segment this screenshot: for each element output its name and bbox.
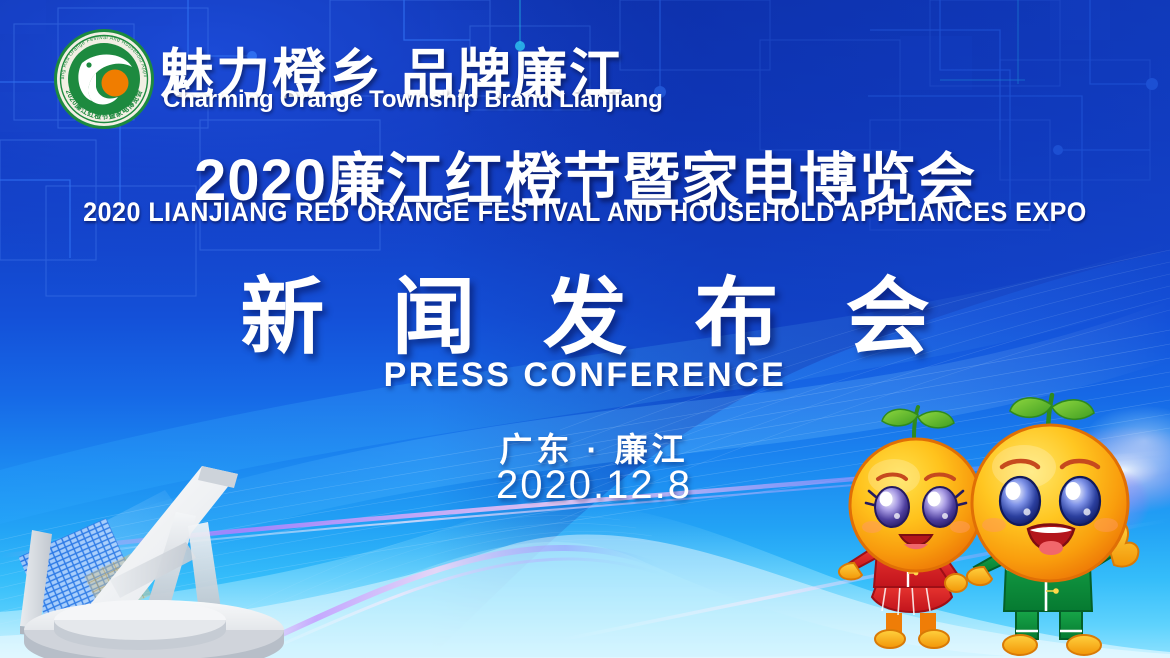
brand-slogan-en: Charming Orange Township Brand Lianjiang — [163, 86, 663, 114]
festival-emblem-logo: 2020 Lianjiang Red Orange Festival And H… — [52, 27, 156, 131]
headline-cn: 新 闻 发 布 会 — [218, 250, 951, 371]
orange-mascot-pair — [838, 385, 1170, 658]
abstract-architecture-sculpture — [0, 430, 320, 658]
headline-en: PRESS CONFERENCE — [384, 356, 787, 395]
event-date: 2020.12.8 — [496, 463, 692, 508]
orange-mascot-boy — [967, 395, 1138, 655]
press-conference-poster: 2020 Lianjiang Red Orange Festival And H… — [0, 0, 1170, 658]
event-title-en: 2020 LIANJIANG RED ORANGE FESTIVAL AND H… — [83, 197, 1087, 228]
orange-mascot-girl — [839, 407, 982, 648]
